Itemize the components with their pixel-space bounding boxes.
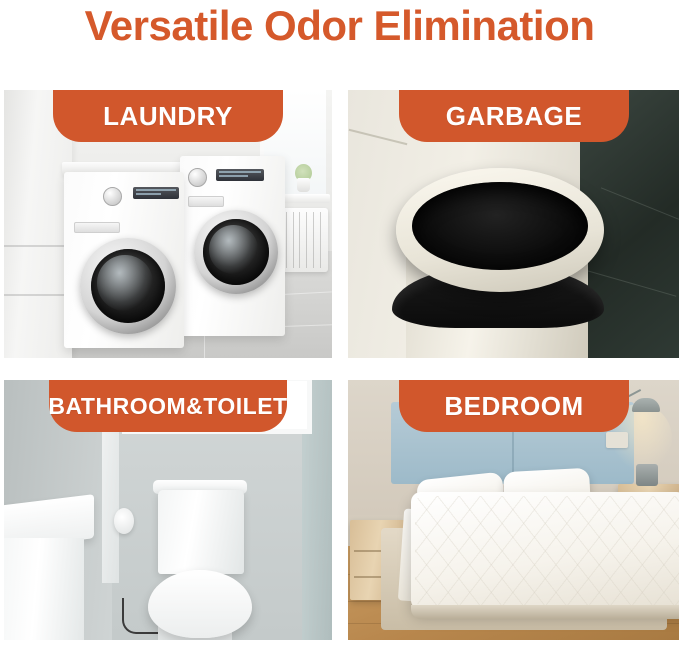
feature-panel-grid: LAUNDRY GARBAGE	[4, 90, 676, 640]
panel-garbage[interactable]: GARBAGE	[348, 90, 679, 358]
vanity-cabinet	[4, 538, 84, 640]
panel-laundry[interactable]: LAUNDRY	[4, 90, 332, 358]
toilet-tank	[158, 490, 244, 574]
washing-machine-right	[180, 156, 285, 336]
badge-laundry-label: LAUNDRY	[103, 101, 233, 132]
badge-bathroom-label: BATHROOM&TOILET	[48, 393, 287, 420]
badge-bedroom-label: BEDROOM	[444, 391, 583, 422]
badge-garbage-label: GARBAGE	[446, 101, 582, 132]
badge-garbage[interactable]: GARBAGE	[399, 90, 629, 142]
panel-bedroom[interactable]: BEDROOM	[348, 380, 679, 640]
trash-bag-opening	[412, 182, 588, 270]
washing-machine-left	[64, 172, 184, 348]
table-lamp-icon	[636, 464, 658, 486]
page-title: Versatile Odor Elimination	[0, 2, 679, 50]
panel-bathroom[interactable]: BATHROOM&TOILET	[4, 380, 332, 640]
wall-lamp-icon	[632, 398, 660, 412]
badge-bedroom[interactable]: BEDROOM	[399, 380, 629, 432]
trash-bin-rim	[396, 168, 604, 292]
toilet-paper-icon	[114, 508, 134, 534]
toilet-seat	[148, 570, 252, 638]
mattress-topper	[411, 492, 679, 610]
light-switch[interactable]	[606, 432, 628, 448]
badge-laundry[interactable]: LAUNDRY	[53, 90, 283, 142]
badge-bathroom[interactable]: BATHROOM&TOILET	[49, 380, 287, 432]
